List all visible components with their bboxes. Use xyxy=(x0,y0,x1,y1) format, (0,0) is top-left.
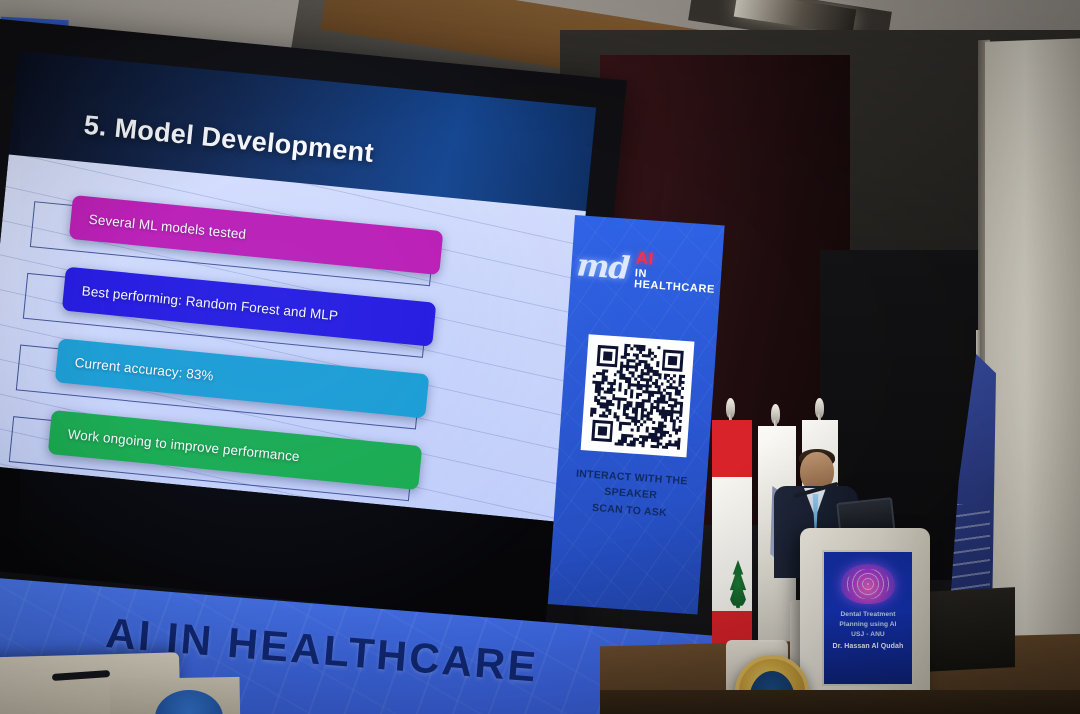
slide-body: Several ML models testedBest performing:… xyxy=(0,154,586,521)
stage-front-edge xyxy=(600,690,1080,714)
qr-code[interactable] xyxy=(581,334,695,457)
slide-bullet-label: Current accuracy: 83% xyxy=(56,353,214,383)
ai-in-healthcare-logo: md AI IN HEALTHCARE xyxy=(584,240,709,300)
speaker-podium: Dental Treatment Planning using AI USJ -… xyxy=(800,528,930,714)
podium-affiliation: USJ - ANU xyxy=(827,630,909,640)
podium-display: Dental Treatment Planning using AI USJ -… xyxy=(822,550,914,686)
podium-logo-graphic xyxy=(841,564,895,604)
screen-frame: 5. Model Development Several ML models t… xyxy=(0,18,627,678)
slide-bullet-label: Several ML models tested xyxy=(70,209,247,241)
logo-subtitle: IN HEALTHCARE xyxy=(634,268,716,296)
logo-accent-text: AI xyxy=(635,249,654,267)
podium-display-text: Dental Treatment Planning using AI USJ -… xyxy=(827,610,909,652)
logo-divider xyxy=(631,254,633,284)
podium-speaker-name: Dr. Hassan Al Qudah xyxy=(827,642,909,653)
qr-interaction-panel: md AI IN HEALTHCARE INTERACT WITH THE SP… xyxy=(548,215,725,615)
cedar-emblem xyxy=(726,560,750,612)
podium-title-line-1: Dental Treatment xyxy=(827,610,909,620)
podium-title-line-2: Planning using AI xyxy=(827,620,909,630)
slide-bar-list: Several ML models testedBest performing:… xyxy=(0,154,586,521)
presentation-slide: 5. Model Development Several ML models t… xyxy=(0,51,596,625)
conference-photo-scene: 5. Model Development Several ML models t… xyxy=(0,0,1080,714)
logo-script-mark: md xyxy=(576,247,631,287)
qr-caption: INTERACT WITH THE SPEAKER SCAN TO ASK xyxy=(560,465,701,523)
